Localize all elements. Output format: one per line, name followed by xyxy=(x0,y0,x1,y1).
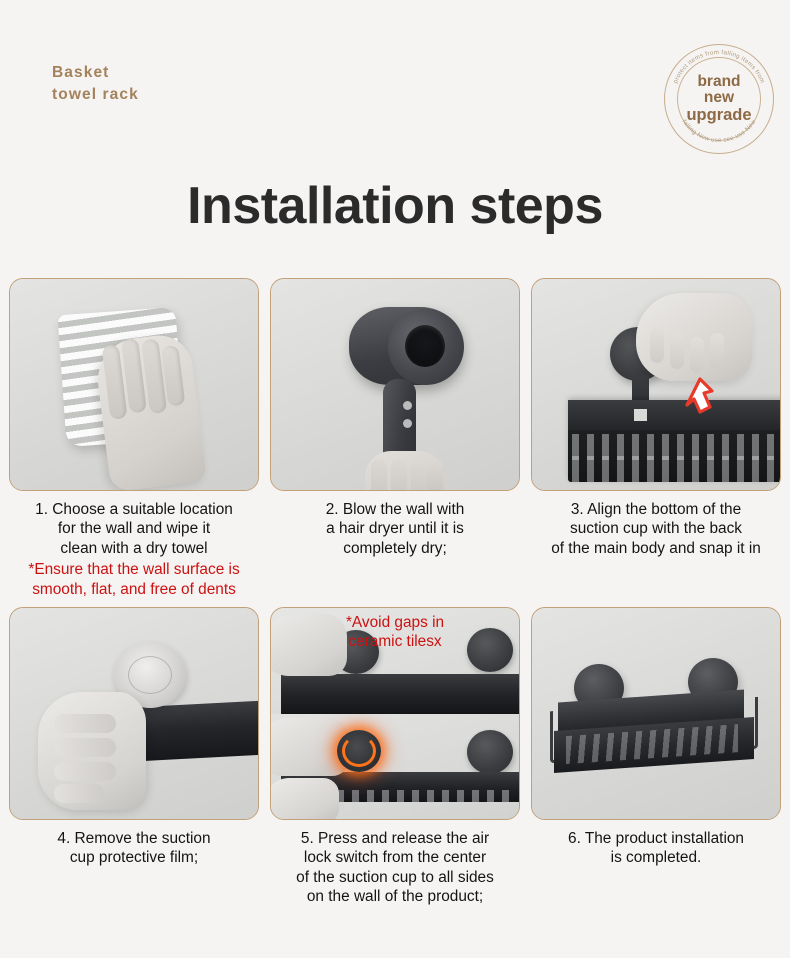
step-cell-6: 6. The product installation is completed… xyxy=(531,607,781,907)
rack-tag xyxy=(634,409,647,421)
step-caption-6: 6. The product installation is completed… xyxy=(522,829,790,868)
badge-line-3: upgrade xyxy=(686,107,751,124)
hand-icon xyxy=(38,692,146,810)
hand-icon xyxy=(271,778,339,819)
step-photo-3 xyxy=(531,278,781,491)
red-arrow-icon xyxy=(670,377,714,419)
step-photo-5: *Avoid gaps in ceramic tilesx xyxy=(270,607,520,820)
step-cell-1: 1. Choose a suitable location for the wa… xyxy=(9,278,259,599)
hand-icon xyxy=(636,293,752,381)
step-caption-2: 2. Blow the wall with a hair dryer until… xyxy=(261,500,529,558)
hair-dryer-icon xyxy=(349,307,461,385)
page-title: Installation steps xyxy=(0,176,790,236)
step-overlay-note-5: *Avoid gaps in ceramic tilesx xyxy=(271,614,519,651)
rack-side-bar xyxy=(129,700,259,761)
badge-core-text: brand new upgrade xyxy=(677,57,761,141)
badge-line-2: new xyxy=(704,90,734,106)
air-lock-switch-icon xyxy=(337,730,381,772)
step-cell-2: 2. Blow the wall with a hair dryer until… xyxy=(270,278,520,599)
badge-line-1: brand xyxy=(697,74,740,90)
step-warning-1: *Ensure that the wall surface is smooth,… xyxy=(0,560,274,599)
step-cell-3: 3. Align the bottom of the suction cup w… xyxy=(531,278,781,599)
shelf-bar xyxy=(281,674,519,714)
product-name-line-1: Basket xyxy=(52,62,139,84)
steps-row-bottom: 4. Remove the suction cup protective fil… xyxy=(0,607,790,907)
step-caption-5: 5. Press and release the air lock switch… xyxy=(261,829,529,907)
rack-perforations xyxy=(566,724,738,764)
step-photo-4 xyxy=(9,607,259,820)
steps-row-top: 1. Choose a suitable location for the wa… xyxy=(0,278,790,599)
hand-icon xyxy=(365,451,445,491)
brand-new-upgrade-badge: protect items from falling items from fa… xyxy=(664,44,774,154)
step-cell-5: *Avoid gaps in ceramic tilesx 5. Press a… xyxy=(270,607,520,907)
photo-scene-5-bottom xyxy=(271,714,519,819)
suction-cup-icon xyxy=(467,730,513,774)
step-photo-6 xyxy=(531,607,781,820)
step-cell-4: 4. Remove the suction cup protective fil… xyxy=(9,607,259,907)
installation-steps-grid: 1. Choose a suitable location for the wa… xyxy=(0,278,790,907)
rack-perforations xyxy=(572,456,781,482)
step-caption-1: 1. Choose a suitable location for the wa… xyxy=(0,500,268,558)
dryer-nozzle xyxy=(405,325,445,367)
step-caption-3: 3. Align the bottom of the suction cup w… xyxy=(522,500,790,558)
product-name-header: Basket towel rack xyxy=(52,62,139,107)
product-name-line-2: towel rack xyxy=(52,84,139,106)
step-photo-2 xyxy=(270,278,520,491)
step-photo-1 xyxy=(9,278,259,491)
hand-icon xyxy=(93,332,207,491)
step-caption-4: 4. Remove the suction cup protective fil… xyxy=(0,829,268,868)
